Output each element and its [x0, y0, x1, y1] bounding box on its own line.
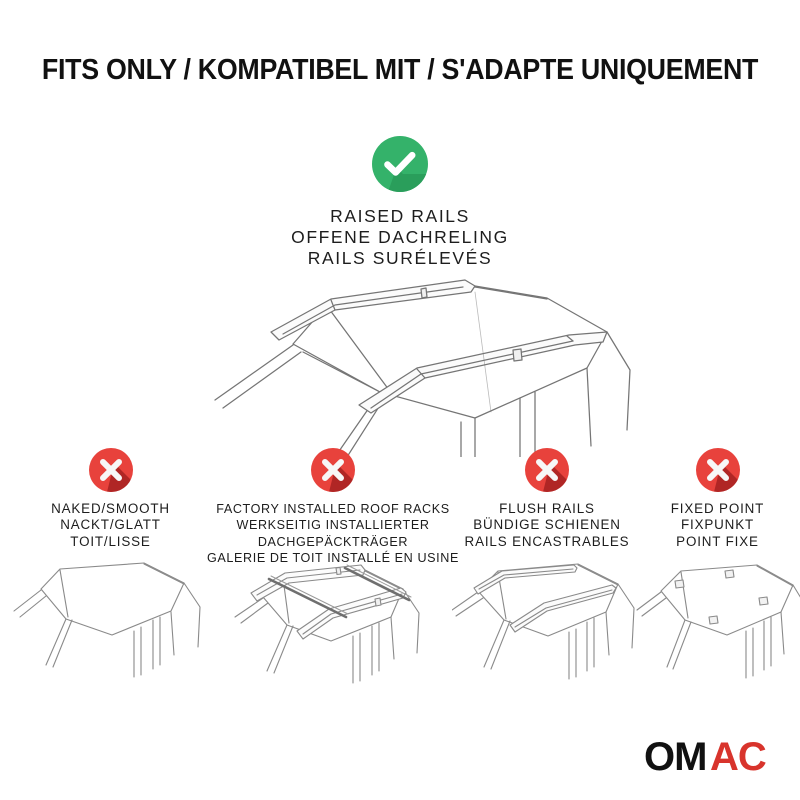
omac-logo: OM AC [644, 736, 776, 778]
disallowed-item-fixed-point: FIXED POINT FIXPUNKT POINT FIXE [635, 448, 800, 550]
car-roof-with-raised-rails-illustration [175, 272, 645, 457]
allowed-label-fr: RAILS SURÉLEVÉS [0, 248, 800, 269]
disallowed-item-factory-roof-racks: FACTORY INSTALLED ROOF RACKS WERKSEITIG … [203, 448, 463, 567]
x-circle-icon [311, 448, 355, 492]
disallowed-label-de-2: DACHGEPÄCKTRÄGER [203, 534, 463, 550]
disallowed-label-fr: TOIT/LISSE [8, 534, 213, 550]
omac-logo-dark-part: OM [644, 736, 706, 778]
disallowed-labels: NAKED/SMOOTH NACKT/GLATT TOIT/LISSE [8, 501, 213, 550]
disallowed-label-en: FACTORY INSTALLED ROOF RACKS [203, 501, 463, 517]
page-title: FITS ONLY / KOMPATIBEL MIT / S'ADAPTE UN… [24, 54, 776, 87]
car-roof-naked-smooth-illustration [8, 555, 213, 690]
x-circle-icon [696, 448, 740, 492]
car-roof-flush-rails-illustration [452, 555, 642, 690]
disallowed-item-flush-rails: FLUSH RAILS BÜNDIGE SCHIENEN RAILS ENCAS… [452, 448, 642, 550]
omac-logo-red-part: AC [710, 736, 766, 778]
allowed-label-de: OFFENE DACHRELING [0, 227, 800, 248]
disallowed-labels: FLUSH RAILS BÜNDIGE SCHIENEN RAILS ENCAS… [452, 501, 642, 550]
disallowed-item-naked-smooth: NAKED/SMOOTH NACKT/GLATT TOIT/LISSE [8, 448, 213, 550]
car-roof-factory-roof-racks-illustration [203, 555, 463, 690]
disallowed-label-de: BÜNDIGE SCHIENEN [452, 517, 642, 533]
disallowed-label-fr: RAILS ENCASTRABLES [452, 534, 642, 550]
disallowed-label-de-1: WERKSEITIG INSTALLIERTER [203, 517, 463, 533]
x-circle-icon [89, 448, 133, 492]
disallowed-label-de: NACKT/GLATT [8, 517, 213, 533]
allowed-section: RAISED RAILS OFFENE DACHRELING RAILS SUR… [0, 136, 800, 269]
x-circle-icon [525, 448, 569, 492]
disallowed-label-en: FIXED POINT [635, 501, 800, 517]
disallowed-labels: FIXED POINT FIXPUNKT POINT FIXE [635, 501, 800, 550]
allowed-labels: RAISED RAILS OFFENE DACHRELING RAILS SUR… [0, 206, 800, 269]
allowed-label-en: RAISED RAILS [0, 206, 800, 227]
disallowed-section: NAKED/SMOOTH NACKT/GLATT TOIT/LISSE [0, 448, 800, 708]
disallowed-label-en: FLUSH RAILS [452, 501, 642, 517]
disallowed-label-en: NAKED/SMOOTH [8, 501, 213, 517]
disallowed-label-fr: POINT FIXE [635, 534, 800, 550]
car-roof-fixed-point-illustration [635, 555, 800, 690]
disallowed-label-de: FIXPUNKT [635, 517, 800, 533]
check-circle-icon [372, 136, 428, 192]
